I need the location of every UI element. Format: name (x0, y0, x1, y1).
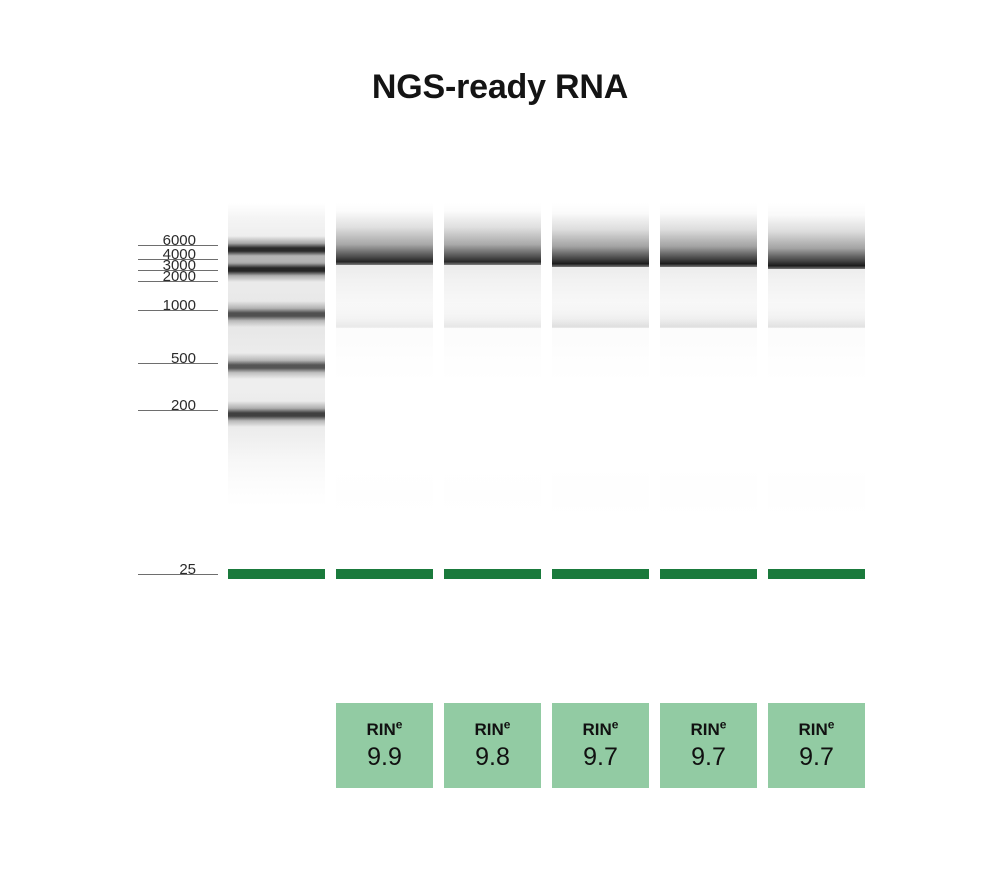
rin-label: RINe (583, 721, 619, 738)
band-sample-1-25 (336, 569, 433, 579)
rin-label-superscript: e (396, 717, 403, 731)
band-ladder-500 (228, 353, 325, 379)
rin-label: RINe (367, 721, 403, 738)
band-sample-3-18S (552, 302, 649, 328)
band-sample-5-28S (768, 215, 865, 269)
rin-value: 9.7 (691, 745, 726, 770)
band-sample-5-smear (768, 466, 865, 518)
rin-score-box-sample-3: RINe9.7 (552, 703, 649, 788)
band-ladder-200 (228, 401, 325, 427)
rin-label-text: RIN (583, 720, 612, 739)
band-sample-4-28S (660, 213, 757, 267)
band-sample-2-smear (444, 466, 541, 518)
ladder-label-2000: 2000 (76, 268, 196, 285)
rin-label-superscript: e (720, 717, 727, 731)
band-sample-3-smear (552, 466, 649, 518)
ladder-label-1000: 1000 (76, 297, 196, 314)
band-ladder-25 (228, 569, 325, 579)
rin-label-superscript: e (828, 717, 835, 731)
rin-value: 9.8 (475, 745, 510, 770)
band-sample-3-25 (552, 569, 649, 579)
band-sample-1-smear (336, 466, 433, 518)
band-ladder-1000 (228, 301, 325, 327)
band-ladder-4000 (228, 256, 325, 282)
rin-score-box-sample-2: RINe9.8 (444, 703, 541, 788)
gel-lane-ladder (228, 203, 325, 593)
rin-label-superscript: e (612, 717, 619, 731)
band-sample-3-28S (552, 213, 649, 267)
band-sample-1-28S (336, 211, 433, 265)
rin-value: 9.9 (367, 745, 402, 770)
rin-score-box-sample-1: RINe9.9 (336, 703, 433, 788)
ladder-label-500: 500 (76, 350, 196, 367)
rin-score-box-sample-4: RINe9.7 (660, 703, 757, 788)
band-sample-2-25 (444, 569, 541, 579)
ladder-tick-1000 (138, 310, 218, 311)
ladder-tick-200 (138, 410, 218, 411)
band-sample-2-28S (444, 211, 541, 265)
gel-lane-sample-5 (768, 203, 865, 593)
gel-lane-sample-4 (660, 203, 757, 593)
band-sample-1-18S (336, 302, 433, 328)
gel-lane-sample-3 (552, 203, 649, 593)
rin-label: RINe (691, 721, 727, 738)
gel-lane-sample-1 (336, 203, 433, 593)
rin-label-superscript: e (504, 717, 511, 731)
rin-label: RINe (475, 721, 511, 738)
rin-score-box-sample-5: RINe9.7 (768, 703, 865, 788)
band-sample-4-18S (660, 302, 757, 328)
rin-value: 9.7 (799, 745, 834, 770)
gel-lane-sample-2 (444, 203, 541, 593)
ladder-tick-2000 (138, 281, 218, 282)
band-sample-4-25 (660, 569, 757, 579)
gel-figure: NGS-ready RNA 60004000300020001000500200… (0, 0, 1000, 875)
ladder-label-25: 25 (76, 561, 196, 578)
rin-label-text: RIN (799, 720, 828, 739)
ladder-label-200: 200 (76, 397, 196, 414)
rin-label-text: RIN (691, 720, 720, 739)
band-sample-5-25 (768, 569, 865, 579)
ladder-tick-500 (138, 363, 218, 364)
rin-label-text: RIN (475, 720, 504, 739)
ladder-tick-25 (138, 574, 218, 575)
band-sample-5-18S (768, 302, 865, 328)
rin-label: RINe (799, 721, 835, 738)
band-sample-4-smear (660, 466, 757, 518)
rin-value: 9.7 (583, 745, 618, 770)
rin-label-text: RIN (367, 720, 396, 739)
band-sample-2-18S (444, 302, 541, 328)
